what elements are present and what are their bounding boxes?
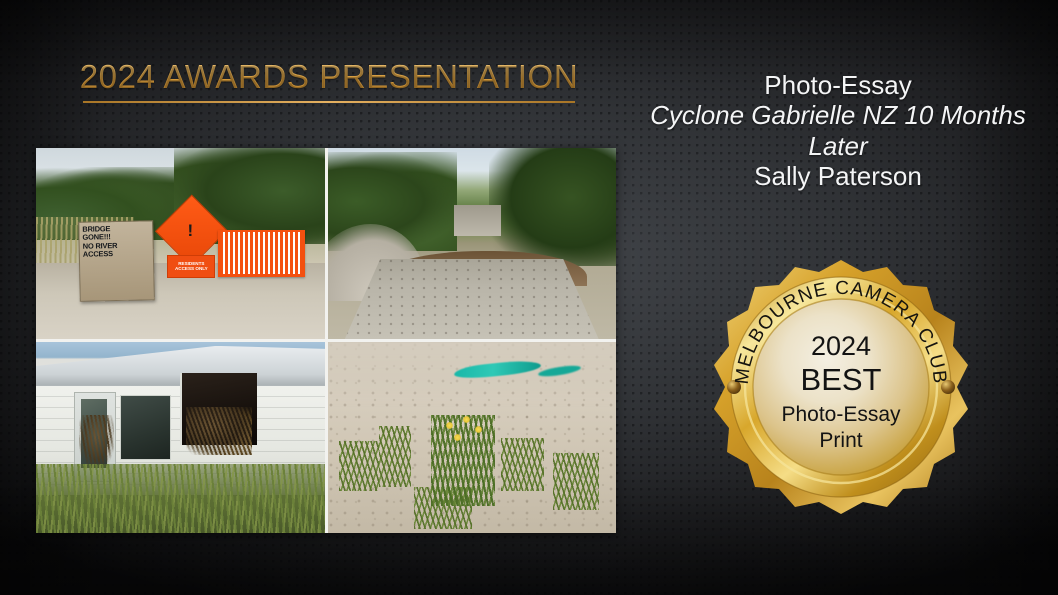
residents-access-sign: RESIDENTS ACCESS ONLY [167,255,215,278]
distant-road [454,205,500,236]
photo-collage: BRIDGE GONE!!! NO RIVER ACCESS ! RESIDEN… [36,148,616,533]
page-title-text: 2024 AWARDS PRESENTATION [80,58,579,101]
grass-tuft [379,426,411,487]
sign-line: ACCESS [83,249,151,259]
page-title: 2024 AWARDS PRESENTATION [36,58,622,103]
flood-debris [79,415,114,468]
residents-sign-line: ACCESS ONLY [175,266,208,272]
award-badge: MELBOURNE CAMERA CLUB 2024 BEST Photo-Es… [712,258,970,516]
flowering-weed [431,415,494,507]
road-texture [345,259,599,339]
grass-tuft [553,453,599,510]
title-underline [83,101,575,103]
award-badge-graphic: MELBOURNE CAMERA CLUB [712,258,970,516]
yellow-flower [446,422,453,429]
awards-presentation-slide: 2024 AWARDS PRESENTATION BRIDGE GONE!!! … [0,0,1058,595]
photo-silt-regrowth [328,342,617,533]
grass-tuft [501,438,544,491]
caption-author: Sally Paterson [640,161,1036,191]
badge-inner-disc [753,299,929,475]
flood-debris [186,407,252,455]
yellow-flower [475,426,482,433]
caption-category: Photo-Essay [640,70,1036,100]
road-barrier [218,230,306,277]
caption-work-title: Cyclone Gabrielle NZ 10 Months Later [640,100,1036,161]
exclamation-icon: ! [166,205,215,255]
photo-washed-out-road [328,148,617,339]
overgrown-weeds [36,464,325,533]
photo-damaged-house [36,342,325,533]
grass-tuft [339,441,379,491]
photo-bridge-gone-sign: BRIDGE GONE!!! NO RIVER ACCESS ! RESIDEN… [36,148,325,339]
house-window [120,395,171,460]
tree-cluster-icon [489,148,616,266]
handwritten-sign: BRIDGE GONE!!! NO RIVER ACCESS [78,220,155,302]
presentation-caption: Photo-Essay Cyclone Gabrielle NZ 10 Mont… [640,70,1036,192]
